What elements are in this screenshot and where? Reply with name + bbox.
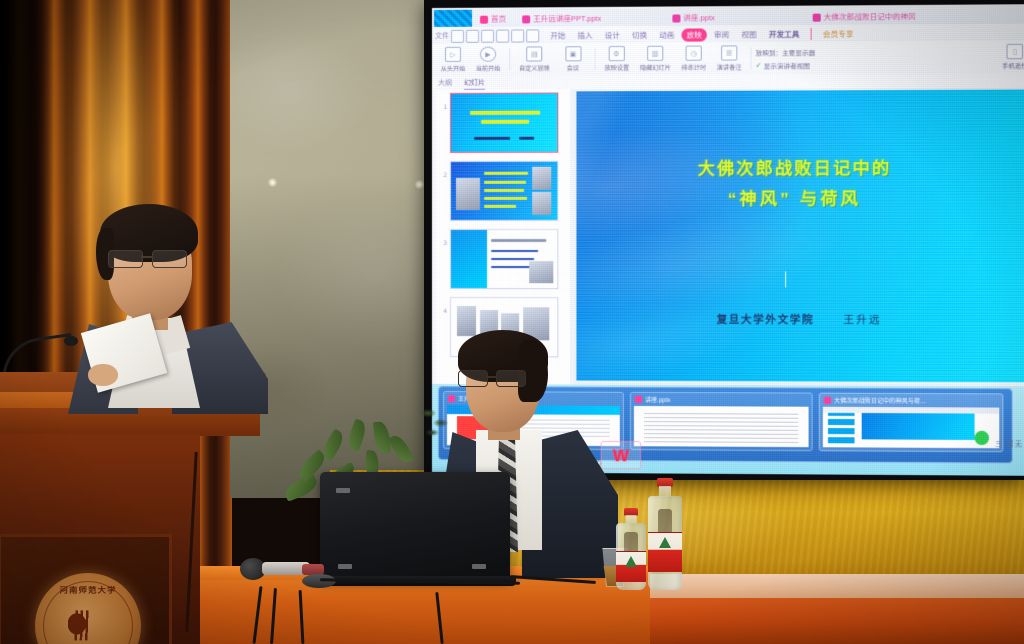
thumb-photo <box>530 261 553 283</box>
ribbon-tab-animation[interactable]: 动画 <box>654 28 679 41</box>
thumbnail-item[interactable]: 3 <box>438 229 570 289</box>
redo-icon[interactable] <box>526 29 539 42</box>
peek-thumb-strip <box>828 412 854 443</box>
ribbon-tab-insert[interactable]: 插入 <box>572 29 597 42</box>
thumb-byline <box>474 137 510 140</box>
thumbnail-number: 4 <box>438 297 447 317</box>
thumb-title-line <box>481 120 530 124</box>
university-emblem: 河南师范大学 1923 HENAN NORMAL UNIVERSITY <box>35 573 141 644</box>
bottle-brand-logo-icon <box>625 556 637 567</box>
slide-byline[interactable]: 复旦大学外文学院 王升远 <box>576 311 1024 327</box>
laptop-badge <box>336 488 350 493</box>
thumbnail-preview-3[interactable] <box>450 229 558 289</box>
slide-presenter-name: 王升远 <box>843 314 881 326</box>
ribbon-button-hide-slide[interactable]: ▥ 隐藏幻灯片 <box>634 46 675 72</box>
emblem-name-cn: 河南师范大学 <box>35 585 141 596</box>
glasses-lens-left <box>458 370 488 387</box>
laptop-computer <box>320 472 510 580</box>
slide-title-line-1: 大佛次郎战败日记中的 <box>576 154 1014 185</box>
thumb-text-line <box>484 180 527 183</box>
thumb-photo <box>532 166 551 189</box>
thumb-photo <box>456 178 479 209</box>
speaker-glasses <box>108 250 194 266</box>
slide-scanlines <box>576 90 1024 383</box>
ribbon-button-label: 从头开始 <box>441 63 465 73</box>
bottle-label <box>648 532 682 572</box>
peek-thumbnail <box>634 406 809 447</box>
monitor-settings-group: 放映到：主要显示器 ✓ 显示演讲者视图 <box>756 46 816 70</box>
peek-title: 大佛次郎战败日记中的神风与荷… <box>834 395 926 405</box>
ribbon-tab-developer[interactable]: 开发工具 <box>764 27 805 40</box>
podium-front-panel: 河南师范大学 1923 HENAN NORMAL UNIVERSITY <box>0 534 172 644</box>
monitor-target-dropdown[interactable]: 放映到：主要显示器 <box>756 46 816 56</box>
window-tab-pptx-2[interactable]: 讲座.pptx <box>664 9 723 26</box>
save-icon[interactable] <box>451 29 464 42</box>
current-slide[interactable]: 大佛次郎战败日记中的 “神风” 与荷风 复旦大学外文学院 王升远 <box>576 90 1024 383</box>
plant-leaf <box>282 474 320 502</box>
presenter-view-checkbox[interactable]: ✓ 显示演讲者视图 <box>756 60 816 70</box>
peek-window-3[interactable]: 大佛次郎战败日记中的神风与荷… <box>819 393 1004 453</box>
bottle-label <box>616 551 646 581</box>
thumb-text-line <box>491 258 534 261</box>
plant-leaf <box>388 432 414 465</box>
thumb-text-line <box>484 197 528 200</box>
pptx-file-icon <box>824 396 831 403</box>
pptx-file-icon <box>672 14 680 22</box>
ribbon-button-rehearse-timing[interactable]: ◷ 排练计时 <box>676 46 710 72</box>
phone-remote-icon: ▯ <box>1006 44 1023 59</box>
slide-title-line-2: “神风” 与荷风 <box>576 184 1014 215</box>
thumbnail-item[interactable]: 1 <box>438 92 570 153</box>
lecture-hall-photo: 首页 王升远讲座PPT.pptx 讲座.pptx 大佛次郎战败日记中的神风与荷风 <box>0 0 1024 644</box>
peek-status-dot <box>974 431 988 445</box>
slide-affiliation: 复旦大学外文学院 <box>717 313 815 325</box>
thumbnail-item[interactable]: 2 <box>438 161 570 221</box>
panel-tab-row: 大纲 幻灯片 <box>438 78 485 90</box>
rehearse-timing-icon: ◷ <box>686 46 702 61</box>
ribbon-tab-design[interactable]: 设计 <box>600 28 625 41</box>
thumb-text-line <box>484 189 524 192</box>
pptx-file-icon <box>635 395 642 402</box>
laptop-lid <box>320 472 510 580</box>
standing-speaker <box>60 198 290 408</box>
text-cursor <box>785 271 786 287</box>
speaker-notes-icon: ☰ <box>721 45 737 60</box>
emblem-crest-mark <box>68 610 108 640</box>
panel-tab-outline[interactable]: 大纲 <box>438 78 452 90</box>
window-tab-label: 首页 <box>491 14 506 25</box>
ribbon-button-label: 会议 <box>567 63 579 72</box>
bottle-body <box>616 523 646 590</box>
peek-window-2[interactable]: 讲座.pptx <box>630 392 813 451</box>
window-tab-pptx-1[interactable]: 王升远讲座PPT.pptx <box>514 10 609 28</box>
window-tab-pptx-3[interactable]: 大佛次郎战败日记中的神风与荷风 <box>804 8 914 26</box>
show-settings-icon: ⚙ <box>608 46 624 61</box>
thumb-text-line <box>491 250 538 253</box>
ribbon-command-bar: ▷ 从头开始 ▶ 当前开始 ▤ 自定义放映 ▣ 会议 ⚙ <box>432 41 1024 77</box>
ceiling-spot-light <box>268 178 277 187</box>
pptx-file-icon <box>522 15 530 23</box>
quick-access-toolbar[interactable]: 文件 <box>435 29 539 43</box>
ribbon-button-phone-remote[interactable]: ▯ 手机遥控 <box>997 44 1024 71</box>
ribbon-button-speaker-notes[interactable]: ☰ 演讲备注 <box>712 45 747 71</box>
thumb-title-line <box>470 111 540 115</box>
peek-text-lines <box>644 410 798 443</box>
handheld-microphone <box>240 556 324 582</box>
hide-slide-icon: ▥ <box>647 46 663 61</box>
laptop-badge <box>472 564 486 569</box>
ribbon-tab-view[interactable]: 视图 <box>736 28 761 41</box>
ribbon-tab-slideshow[interactable]: 放映 <box>682 28 707 41</box>
peek-thumbnail <box>823 407 999 448</box>
thumb-accent-bar <box>451 230 487 288</box>
ribbon-button-label: 手机遥控 <box>1002 60 1024 70</box>
peek-title-bar: 大佛次郎战败日记中的神风与荷… <box>820 394 1003 407</box>
plant-leaf <box>373 421 391 454</box>
thumbnail-number: 3 <box>438 229 447 249</box>
thumbnail-preview-2[interactable] <box>450 161 558 221</box>
ribbon-button-label: 隐藏幻灯片 <box>639 62 670 72</box>
ribbon-right-group: ▯ 手机遥控 <box>997 44 1024 71</box>
ribbon-tab-vip[interactable]: 会员专享 <box>818 27 859 40</box>
ribbon-button-play-from-start[interactable]: ▷ 从头开始 <box>436 47 470 73</box>
thumbnail-number: 1 <box>438 93 447 113</box>
checkmark-icon: ✓ <box>756 61 762 69</box>
glasses-lens-right <box>152 250 187 268</box>
taskbar-tray-text: 三 暂无 <box>995 439 1023 449</box>
thumb-byline <box>519 137 534 140</box>
print-preview-icon[interactable] <box>481 29 494 42</box>
laptop-badge <box>338 564 352 569</box>
play-from-current-icon: ▶ <box>480 47 496 62</box>
thumb-photo <box>532 192 551 215</box>
glasses-bridge <box>486 376 496 378</box>
ribbon-button-custom-show[interactable]: ▤ 自定义放映 <box>514 46 555 72</box>
ribbon-button-show-settings[interactable]: ⚙ 放映设置 <box>599 46 633 72</box>
wps-logo-icon <box>434 10 472 28</box>
water-bottle-front <box>616 508 646 590</box>
window-tab-home[interactable]: 首页 <box>472 10 514 27</box>
bottle-brand-logo-icon <box>659 537 671 548</box>
peek-title: 讲座.pptx <box>645 394 670 403</box>
plant-leaf <box>319 429 347 462</box>
print-icon[interactable] <box>466 29 479 42</box>
ribbon-button-meeting[interactable]: ▣ 会议 <box>556 46 590 72</box>
ribbon-button-label: 排练计时 <box>681 62 706 72</box>
ribbon-separator <box>594 48 595 70</box>
ribbon-separator <box>509 49 510 71</box>
ceiling-spot-light <box>415 180 424 189</box>
panel-tab-slides[interactable]: 幻灯片 <box>464 78 485 90</box>
window-tab-label: 王升远讲座PPT.pptx <box>533 13 601 24</box>
ribbon-tab-transition[interactable]: 切换 <box>627 28 652 41</box>
slide-editing-stage[interactable]: 大佛次郎战败日记中的 “神风” 与荷风 复旦大学外文学院 王升远 <box>572 88 1024 387</box>
play-from-start-icon: ▷ <box>445 47 461 62</box>
meeting-icon: ▣ <box>565 46 581 61</box>
presenter-view-label: 显示演讲者视图 <box>764 60 810 70</box>
ribbon-tab-start[interactable]: 开始 <box>545 29 570 42</box>
bottle-body <box>648 496 682 590</box>
custom-show-icon: ▤ <box>526 46 542 61</box>
speaker-hand <box>88 364 118 386</box>
thumb-text-line <box>484 205 516 208</box>
glasses-lens-left <box>108 250 143 268</box>
thumb-text-line <box>491 239 546 242</box>
ribbon-button-label: 演讲备注 <box>717 62 742 72</box>
window-tab-label: 讲座.pptx <box>683 12 715 23</box>
ribbon-button-play-from-current[interactable]: ▶ 当前开始 <box>471 47 505 73</box>
water-bottle-back <box>648 478 682 590</box>
undo-icon[interactable] <box>511 29 524 42</box>
glasses-lens-right <box>496 370 526 387</box>
wps-home-icon <box>480 15 488 23</box>
ribbon-button-label: 自定义放映 <box>519 63 550 73</box>
export-pdf-icon[interactable] <box>496 29 509 42</box>
peek-slide-area <box>862 413 975 440</box>
pptx-file-icon <box>812 13 820 21</box>
ribbon-button-label: 放映设置 <box>604 62 629 72</box>
ribbon-tab-review[interactable]: 审阅 <box>709 28 734 41</box>
thumbnail-number: 2 <box>438 161 447 181</box>
peek-title-bar: 讲座.pptx <box>631 393 812 406</box>
panelist-glasses <box>458 370 528 385</box>
window-tab-label: 大佛次郎战败日记中的神风与荷风 <box>824 11 915 23</box>
slide-title-text[interactable]: 大佛次郎战败日记中的 “神风” 与荷风 <box>576 154 1014 215</box>
podium-body: 河南师范大学 1923 HENAN NORMAL UNIVERSITY <box>0 434 200 644</box>
ribbon-separator <box>751 47 752 69</box>
plant-leaf <box>345 419 368 452</box>
file-menu-label[interactable]: 文件 <box>435 31 449 41</box>
thumbnail-preview-1[interactable] <box>450 92 558 152</box>
ribbon-divider <box>811 28 812 40</box>
ribbon-button-label: 当前开始 <box>476 63 500 73</box>
